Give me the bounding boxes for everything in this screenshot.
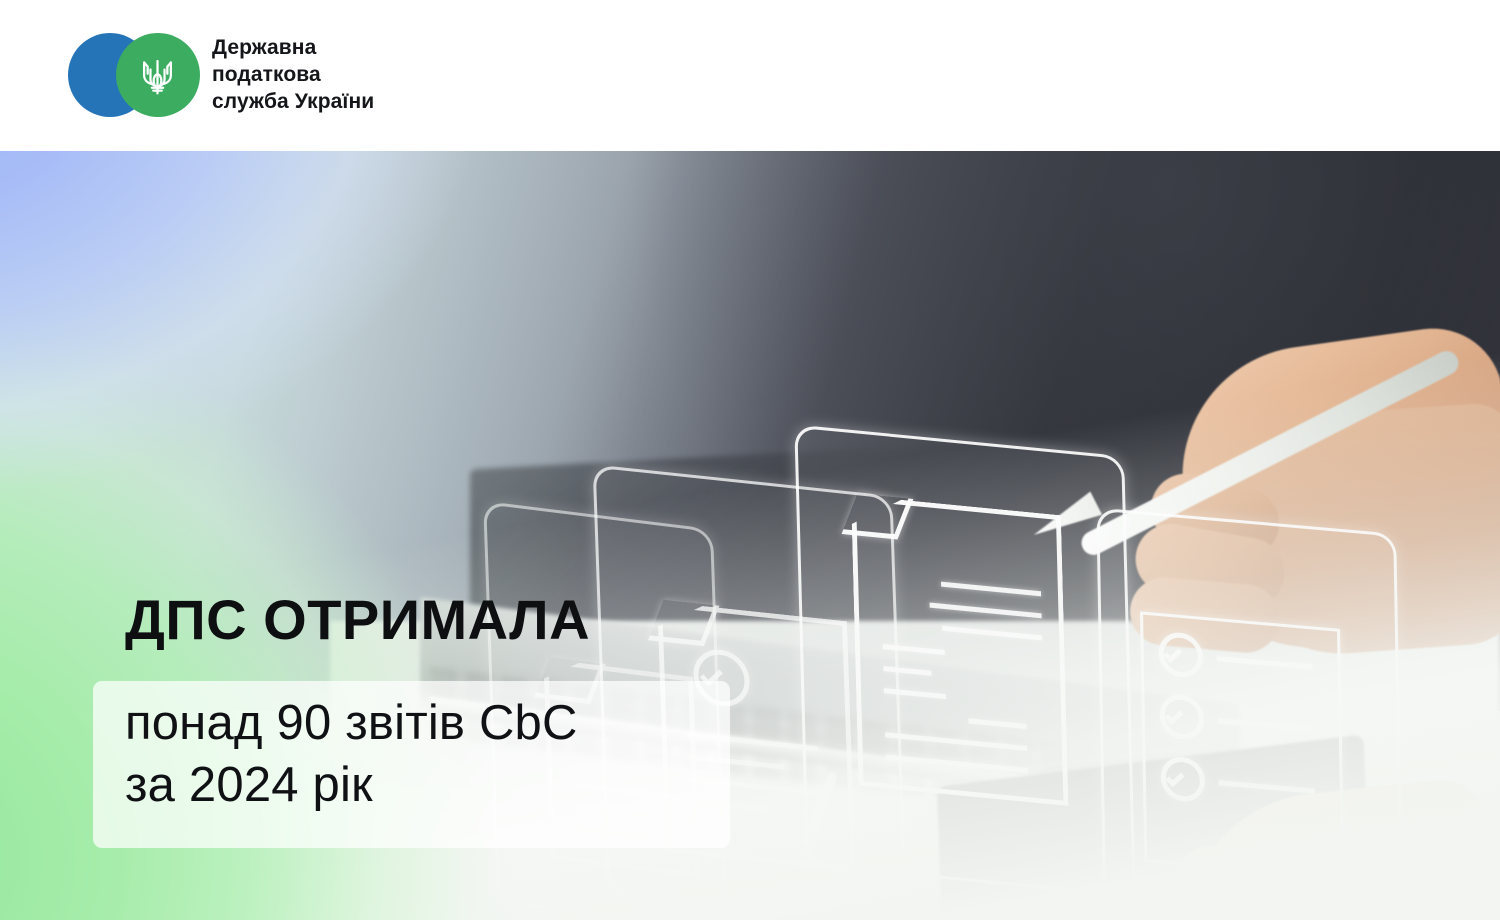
agency-logo[interactable]: Державна податкова служба України (68, 33, 374, 118)
logo-marks (68, 33, 200, 118)
agency-logo-text: Державна податкова служба України (212, 35, 374, 116)
poster-page: Державна податкова служба України (0, 0, 1500, 920)
hero-headline: ДПС ОТРИМАЛА (125, 592, 590, 648)
hero-banner: ДПС ОТРИМАЛА понад 90 звітів CbC за 2024… (0, 151, 1500, 920)
hero-subtitle: понад 90 звітів CbC за 2024 рік (125, 693, 578, 816)
site-header: Державна податкова служба України (0, 0, 1500, 151)
ukrainian-trident-emblem-icon (135, 54, 180, 99)
